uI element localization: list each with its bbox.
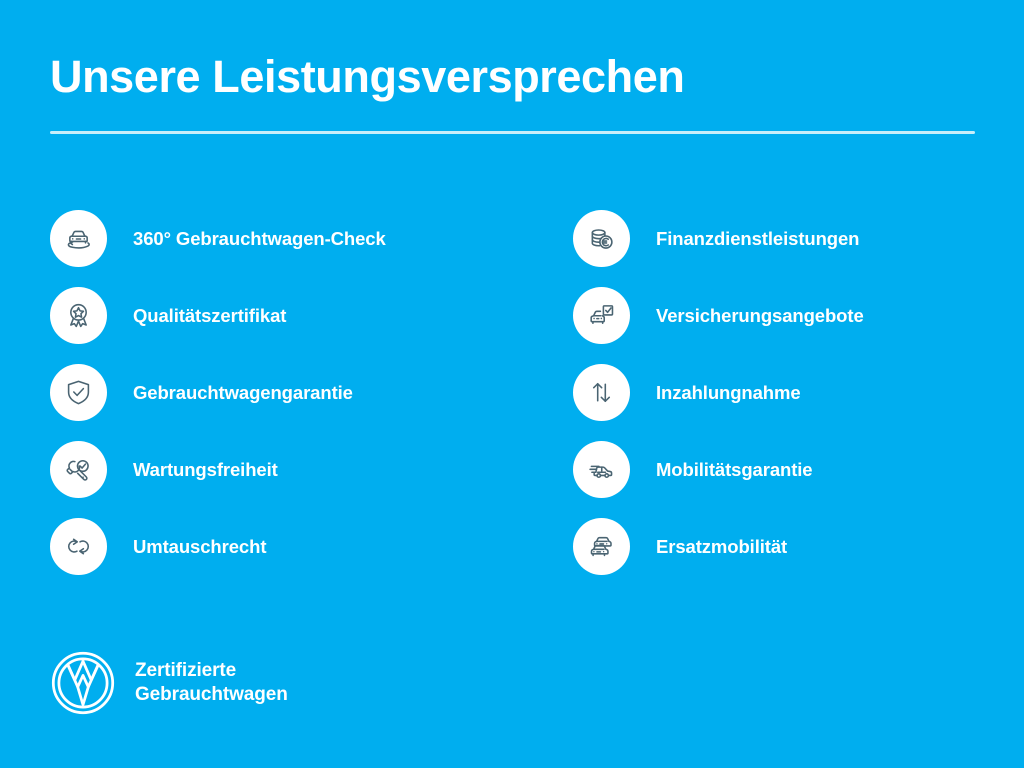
brand-line-2: Gebrauchtwagen xyxy=(135,683,288,707)
brand-lockup: Zertifizierte Gebrauchtwagen xyxy=(50,650,288,716)
feature-item: Qualitätszertifikat xyxy=(50,277,573,354)
title-divider xyxy=(50,131,975,134)
feature-label: Wartungsfreiheit xyxy=(133,459,278,481)
feature-label: Umtauschrecht xyxy=(133,536,266,558)
feature-item: Wartungsfreiheit xyxy=(50,431,573,508)
slide-root: Unsere Leistungsversprechen 360° Gebrauc… xyxy=(0,0,1024,768)
feature-label: Ersatzmobilität xyxy=(656,536,787,558)
feature-label: Versicherungsangebote xyxy=(656,305,864,327)
page-title: Unsere Leistungsversprechen xyxy=(50,52,684,102)
two-cars-icon xyxy=(573,518,630,575)
feature-item: Ersatzmobilität xyxy=(573,508,975,585)
car-motion-icon xyxy=(573,441,630,498)
feature-item: Umtauschrecht xyxy=(50,508,573,585)
car-360-check-icon xyxy=(50,210,107,267)
arrows-up-down-icon xyxy=(573,364,630,421)
feature-item: Mobilitätsgarantie xyxy=(573,431,975,508)
award-rosette-icon xyxy=(50,287,107,344)
feature-label: Mobilitätsgarantie xyxy=(656,459,813,481)
feature-label: Inzahlungnahme xyxy=(656,382,801,404)
exchange-arrows-icon xyxy=(50,518,107,575)
feature-item: Inzahlungnahme xyxy=(573,354,975,431)
brand-line-1: Zertifizierte xyxy=(135,659,288,683)
wrench-check-icon xyxy=(50,441,107,498)
feature-label: Finanzdienstleistungen xyxy=(656,228,859,250)
coins-euro-icon xyxy=(573,210,630,267)
volkswagen-logo-icon xyxy=(50,650,116,716)
feature-item: Gebrauchtwagengarantie xyxy=(50,354,573,431)
feature-label: 360° Gebrauchtwagen-Check xyxy=(133,228,386,250)
feature-label: Gebrauchtwagengarantie xyxy=(133,382,353,404)
feature-grid: 360° Gebrauchtwagen-Check Finanzdienstle… xyxy=(50,200,975,585)
brand-text: Zertifizierte Gebrauchtwagen xyxy=(135,659,288,707)
feature-item: 360° Gebrauchtwagen-Check xyxy=(50,200,573,277)
feature-item: Versicherungsangebote xyxy=(573,277,975,354)
feature-item: Finanzdienstleistungen xyxy=(573,200,975,277)
shield-check-icon xyxy=(50,364,107,421)
feature-label: Qualitätszertifikat xyxy=(133,305,286,327)
car-insurance-document-icon xyxy=(573,287,630,344)
